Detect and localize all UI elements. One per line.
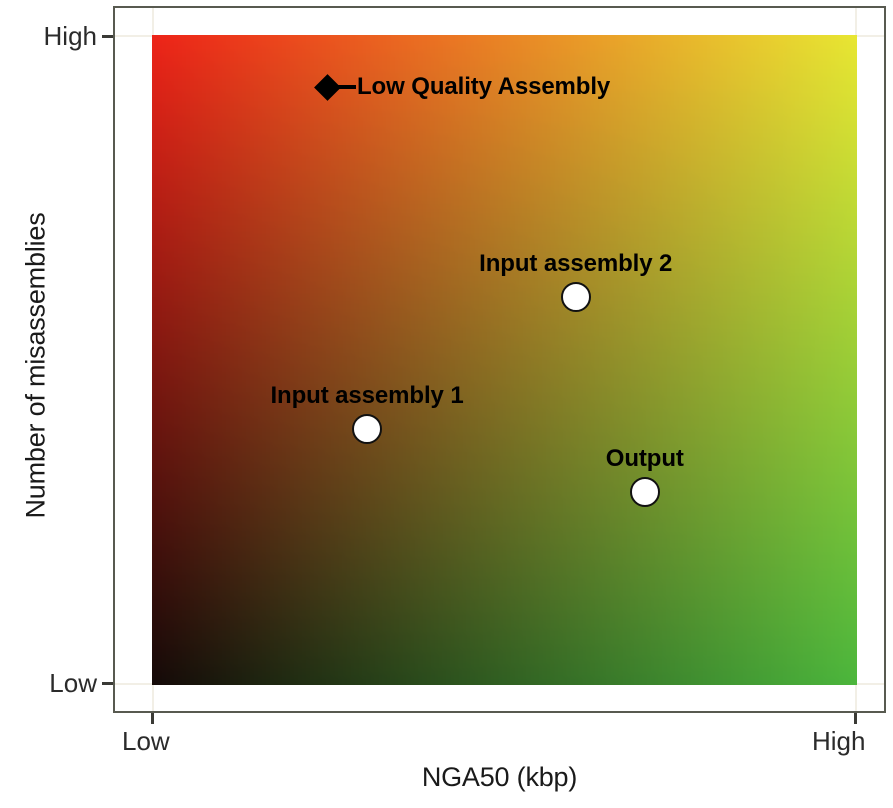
- y-tick-label-low: Low: [49, 668, 97, 699]
- x-tick-label-low: Low: [122, 726, 170, 757]
- annotation-low-quality-label: Low Quality Assembly: [357, 73, 610, 101]
- x-tick-mark-high: [854, 713, 857, 724]
- gradient-canvas: [152, 35, 857, 685]
- plot-frame: Input assembly 1Input assembly 2Output L…: [113, 6, 886, 713]
- x-tick-mark-low: [151, 713, 154, 724]
- x-axis-title: NGA50 (kbp): [113, 762, 886, 793]
- x-tick-label-high: High: [812, 726, 865, 757]
- y-tick-label-high: High: [44, 21, 97, 52]
- data-point-marker: [352, 414, 382, 444]
- quality-gradient-panel: Input assembly 1Input assembly 2Output L…: [152, 35, 857, 685]
- y-tick-mark-low: [102, 682, 113, 685]
- y-tick-mark-high: [102, 35, 113, 38]
- data-point-label: Output: [606, 445, 684, 473]
- data-point-label: Input assembly 2: [479, 250, 672, 278]
- data-point-marker: [630, 477, 660, 507]
- data-point-marker: [561, 282, 591, 312]
- y-axis-title: Number of misassemblies: [21, 126, 52, 606]
- quality-quadrant-figure: Number of misassemblies NGA50 (kbp) High…: [0, 0, 893, 808]
- annotation-low-quality-assembly: Low Quality Assembly: [318, 73, 610, 101]
- diamond-marker-icon: [314, 74, 341, 101]
- data-point-label: Input assembly 1: [270, 382, 463, 410]
